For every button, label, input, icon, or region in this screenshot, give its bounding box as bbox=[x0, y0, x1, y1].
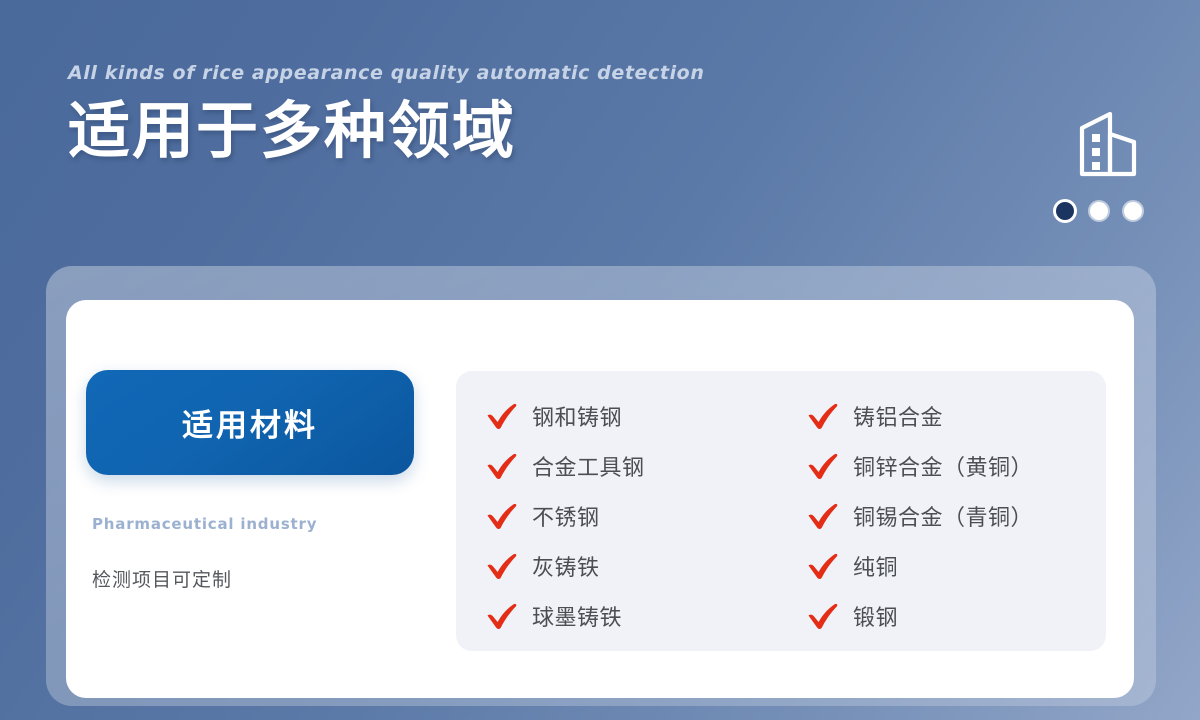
list-item: 锻钢 bbox=[807, 595, 1106, 637]
list-item: 铜锡合金（青铜） bbox=[807, 495, 1106, 537]
left-column: 适用材料 Pharmaceutical industry 检测项目可定制 bbox=[66, 300, 456, 592]
list-item: 不锈钢 bbox=[486, 495, 785, 537]
check-icon bbox=[807, 503, 839, 529]
header: All kinds of rice appearance quality aut… bbox=[68, 62, 704, 165]
page-title: 适用于多种领域 bbox=[68, 98, 704, 165]
content-card: 适用材料 Pharmaceutical industry 检测项目可定制 钢和铸… bbox=[66, 300, 1134, 698]
material-label: 铸铝合金 bbox=[853, 400, 943, 432]
materials-panel: 钢和铸钢 合金工具钢 不锈钢 bbox=[456, 371, 1106, 651]
list-item: 球墨铸铁 bbox=[486, 595, 785, 637]
material-label: 球墨铸铁 bbox=[532, 600, 622, 632]
material-label: 合金工具钢 bbox=[532, 450, 645, 482]
check-icon bbox=[486, 503, 518, 529]
check-icon bbox=[486, 453, 518, 479]
check-icon bbox=[807, 553, 839, 579]
check-icon bbox=[807, 603, 839, 629]
check-icon bbox=[807, 453, 839, 479]
list-item: 铜锌合金（黄铜） bbox=[807, 445, 1106, 487]
list-item: 铸铝合金 bbox=[807, 395, 1106, 437]
check-icon bbox=[807, 403, 839, 429]
material-label: 钢和铸钢 bbox=[532, 400, 622, 432]
material-label: 铜锡合金（青铜） bbox=[853, 500, 1033, 532]
carousel-dots[interactable] bbox=[1056, 202, 1142, 220]
eyebrow-text: All kinds of rice appearance quality aut… bbox=[68, 62, 704, 84]
material-label: 铜锌合金（黄铜） bbox=[853, 450, 1033, 482]
material-label: 灰铸铁 bbox=[532, 550, 600, 582]
applicable-materials-button[interactable]: 适用材料 bbox=[86, 370, 414, 475]
material-label: 纯铜 bbox=[853, 550, 898, 582]
check-icon bbox=[486, 403, 518, 429]
carousel-dot-1[interactable] bbox=[1056, 202, 1074, 220]
list-item: 合金工具钢 bbox=[486, 445, 785, 487]
list-item: 纯铜 bbox=[807, 545, 1106, 587]
carousel-dot-2[interactable] bbox=[1090, 202, 1108, 220]
materials-column-right: 铸铝合金 铜锌合金（黄铜） 铜锡合金（青铜） bbox=[785, 391, 1106, 651]
material-label: 不锈钢 bbox=[532, 500, 600, 532]
material-label: 锻钢 bbox=[853, 600, 898, 632]
slide-root: All kinds of rice appearance quality aut… bbox=[0, 0, 1200, 720]
subtitle-english: Pharmaceutical industry bbox=[92, 515, 456, 533]
check-icon bbox=[486, 603, 518, 629]
check-icon bbox=[486, 553, 518, 579]
building-icon bbox=[1076, 108, 1142, 180]
materials-column-left: 钢和铸钢 合金工具钢 不锈钢 bbox=[456, 391, 785, 651]
list-item: 灰铸铁 bbox=[486, 545, 785, 587]
carousel-dot-3[interactable] bbox=[1124, 202, 1142, 220]
subtitle-chinese: 检测项目可定制 bbox=[92, 565, 456, 592]
list-item: 钢和铸钢 bbox=[486, 395, 785, 437]
